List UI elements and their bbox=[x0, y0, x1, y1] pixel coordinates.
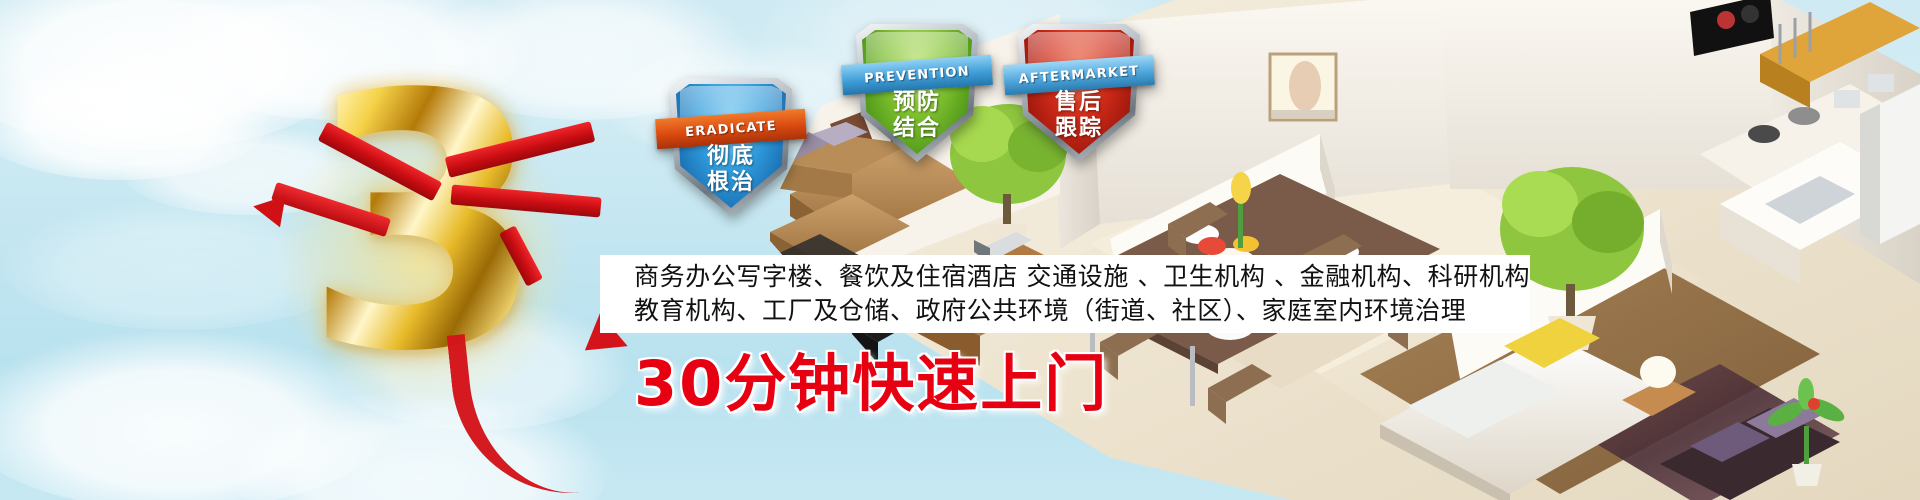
shield-chinese-line-1: 彻底 bbox=[670, 144, 792, 170]
service-scope-line-2: 教育机构、工厂及仓储、政府公共环境（街道、社区）、家庭室内环境治理 bbox=[634, 294, 1530, 328]
shield-english-label: PREVENTION bbox=[864, 64, 971, 86]
shield-english-label: AFTERMARKET bbox=[1018, 63, 1139, 86]
shield-chinese-label: 售后 跟踪 bbox=[1018, 90, 1140, 142]
service-scope-panel: 商务办公写字楼、餐饮及住宿酒店 交通设施 、卫生机构 、金融机构、科研机构 教育… bbox=[600, 255, 1530, 333]
shield-chinese-line-2: 结合 bbox=[856, 116, 978, 142]
shield-chinese-line-2: 根治 bbox=[670, 170, 792, 196]
shield-chinese-line-1: 售后 bbox=[1018, 90, 1140, 116]
shield-chinese-line-1: 预防 bbox=[856, 90, 978, 116]
headline-text: 30分钟快速上门 bbox=[634, 348, 1108, 420]
shield-chinese-line-2: 跟踪 bbox=[1018, 116, 1140, 142]
service-scope-line-1: 商务办公写字楼、餐饮及住宿酒店 交通设施 、卫生机构 、金融机构、科研机构 bbox=[634, 260, 1530, 294]
cloud-shape bbox=[0, 60, 270, 180]
badge-shield-prevention[interactable]: PREVENTION 预防 结合 bbox=[856, 24, 978, 162]
shield-english-label: ERADICATE bbox=[685, 118, 778, 139]
shield-chinese-label: 彻底 根治 bbox=[670, 144, 792, 196]
ribbon-arrow-head-left bbox=[250, 191, 285, 228]
promotional-banner: 3 ERADICATE 彻底 根治 PREVENTION 预防 结合 bbox=[0, 0, 1920, 500]
badge-shield-eradicate[interactable]: ERADICATE 彻底 根治 bbox=[670, 78, 792, 216]
shield-chinese-label: 预防 结合 bbox=[856, 90, 978, 142]
badge-shield-aftermarket[interactable]: AFTERMARKET 售后 跟踪 bbox=[1018, 24, 1140, 162]
golden-number-3-graphic: 3 bbox=[255, 95, 595, 425]
